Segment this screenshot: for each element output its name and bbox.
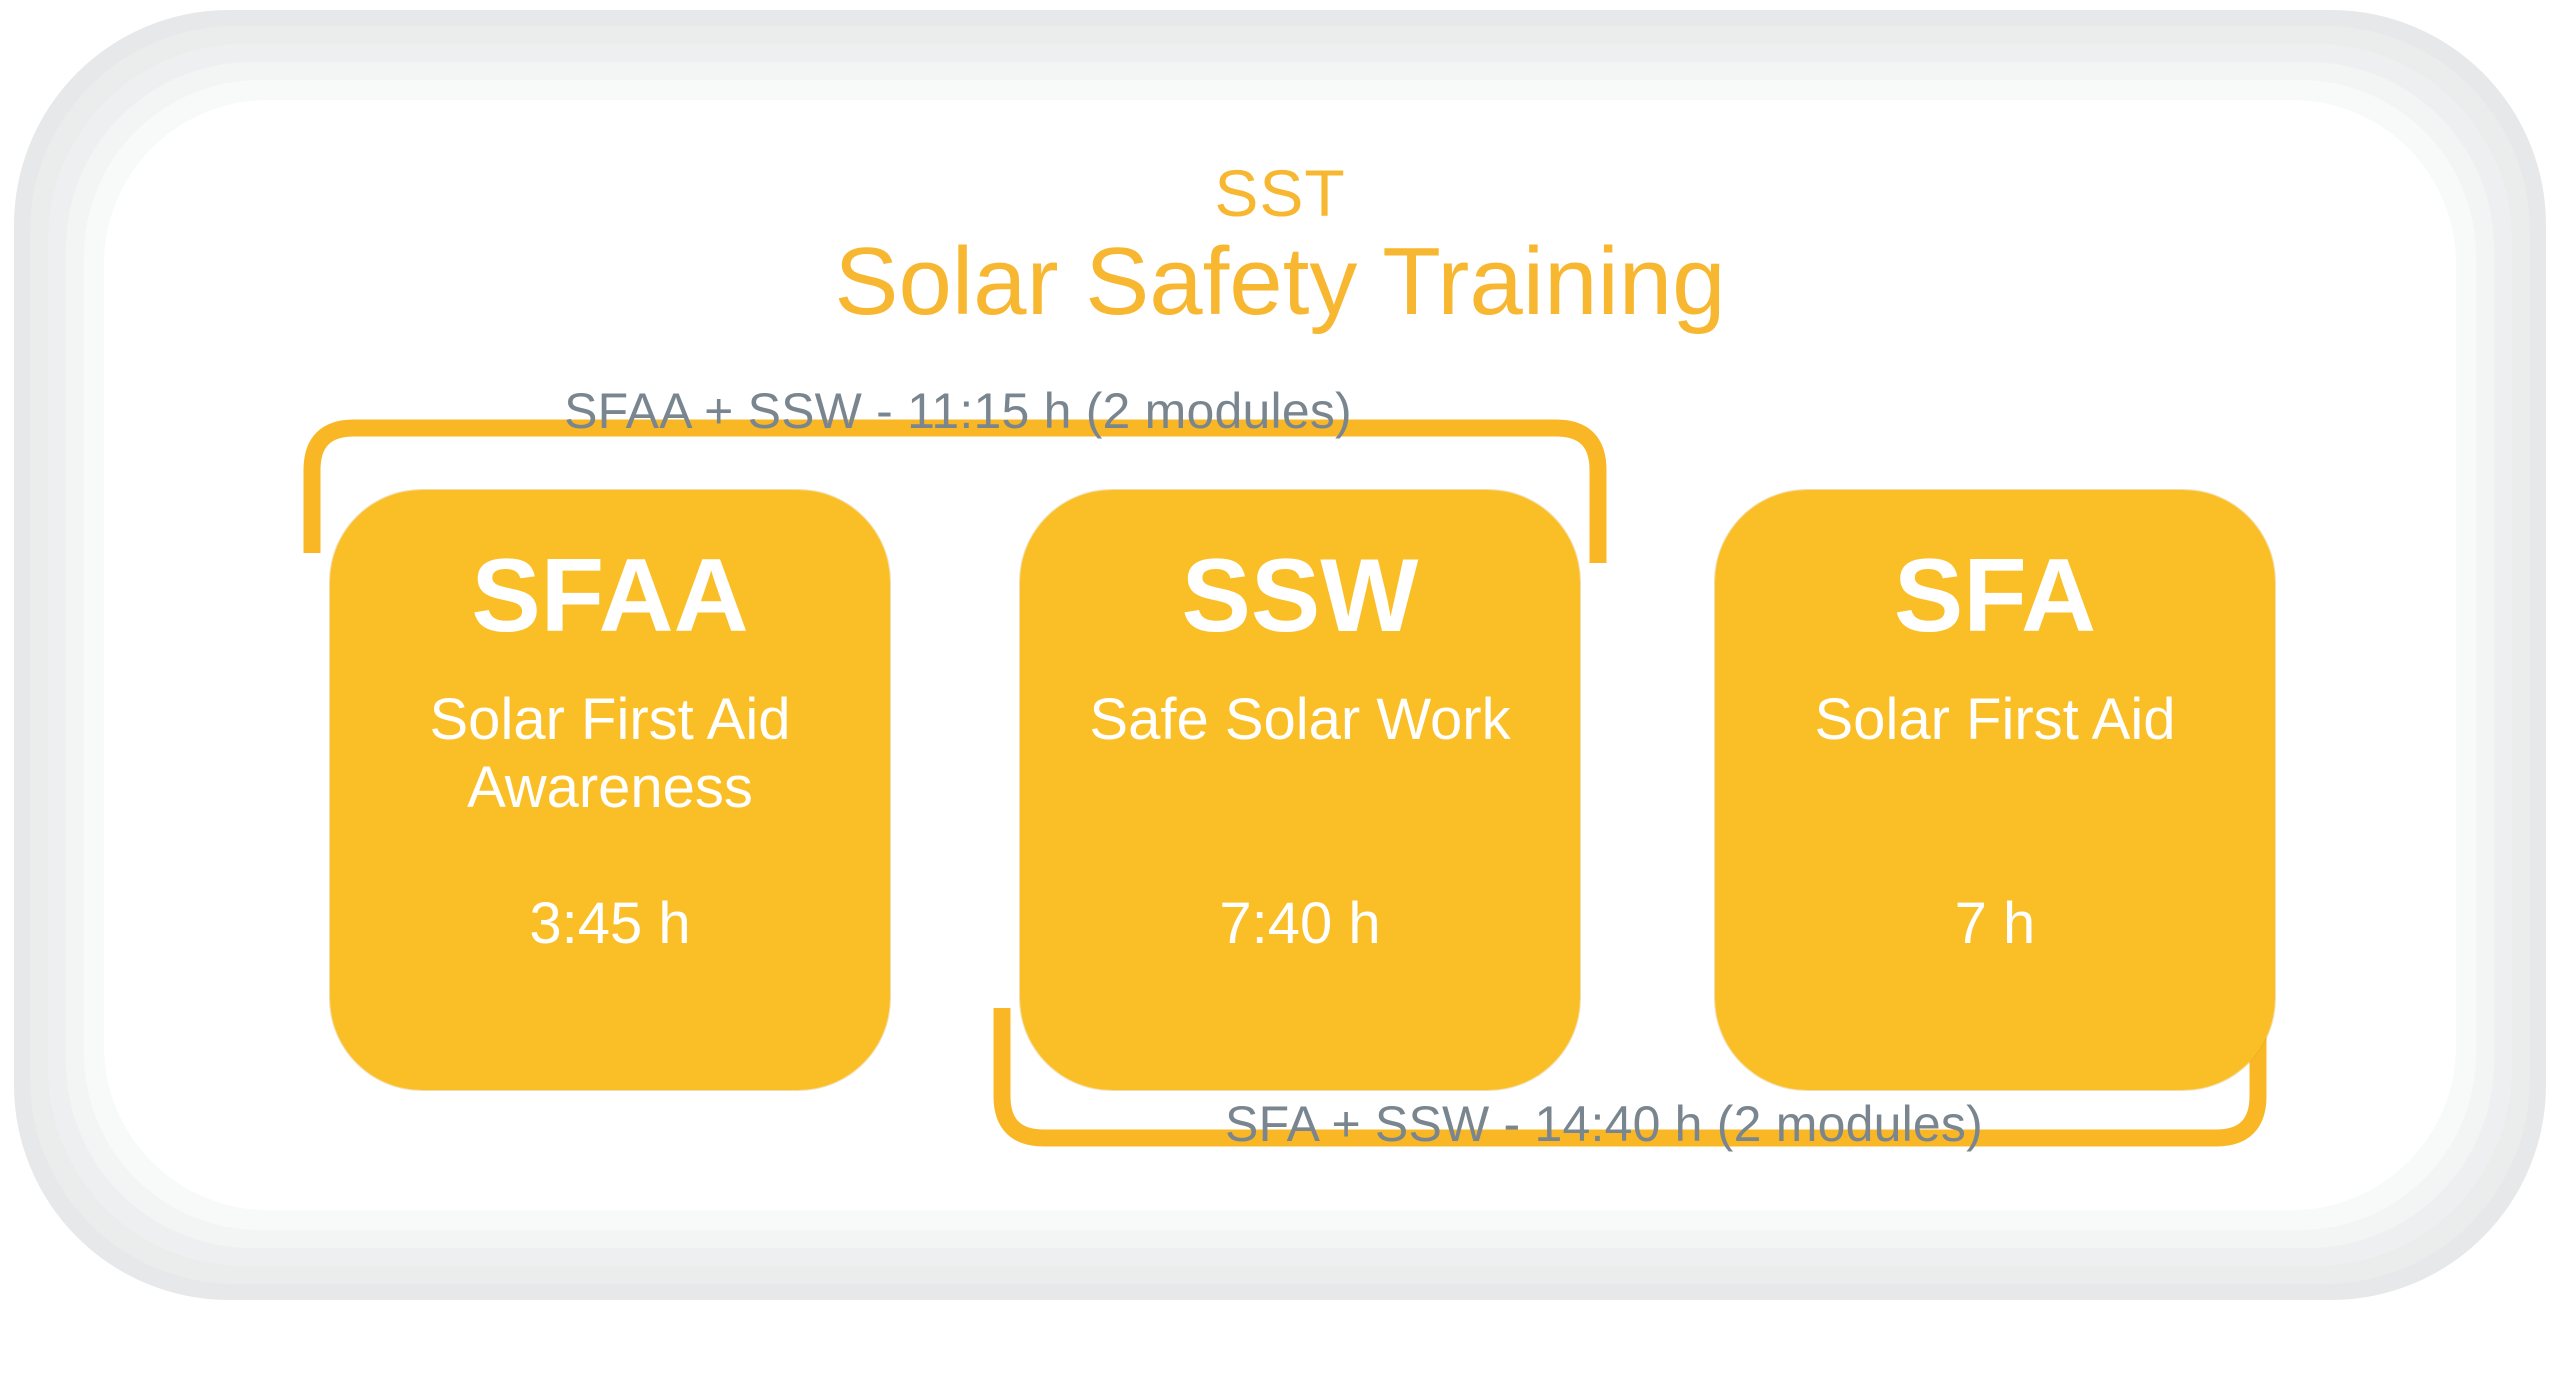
card-content: SSW Safe Solar Work 7:40 h xyxy=(1020,490,1580,1090)
card-content: SFA Solar First Aid 7 h xyxy=(1715,490,2275,1090)
card-content: SFAA Solar First Aid Awareness 3:45 h xyxy=(330,490,890,1090)
module-card-ssw[interactable]: SSW Safe Solar Work 7:40 h xyxy=(1020,490,1580,1090)
card-acronym: SSW xyxy=(1020,542,1580,651)
page-title: SST Solar Safety Training xyxy=(0,160,2560,330)
card-duration: 3:45 h xyxy=(330,890,890,957)
bracket-bottom-label: SFA + SSW - 14:40 h (2 modules) xyxy=(646,1095,2560,1153)
module-card-sfaa[interactable]: SFAA Solar First Aid Awareness 3:45 h xyxy=(330,490,890,1090)
diagram-root: SST Solar Safety Training SFAA + SSW - 1… xyxy=(0,0,2560,1377)
title-acronym: SST xyxy=(0,160,2560,226)
card-acronym: SFAA xyxy=(330,542,890,651)
card-name: Solar First Aid Awareness xyxy=(350,686,870,823)
card-name: Safe Solar Work xyxy=(1040,686,1560,754)
card-acronym: SFA xyxy=(1715,542,2275,651)
card-name: Solar First Aid xyxy=(1735,686,2255,754)
card-duration: 7 h xyxy=(1715,890,2275,957)
title-full: Solar Safety Training xyxy=(0,234,2560,330)
module-card-sfa[interactable]: SFA Solar First Aid 7 h xyxy=(1715,490,2275,1090)
card-duration: 7:40 h xyxy=(1020,890,1580,957)
bracket-top-label: SFAA + SSW - 11:15 h (2 modules) xyxy=(0,382,1916,440)
